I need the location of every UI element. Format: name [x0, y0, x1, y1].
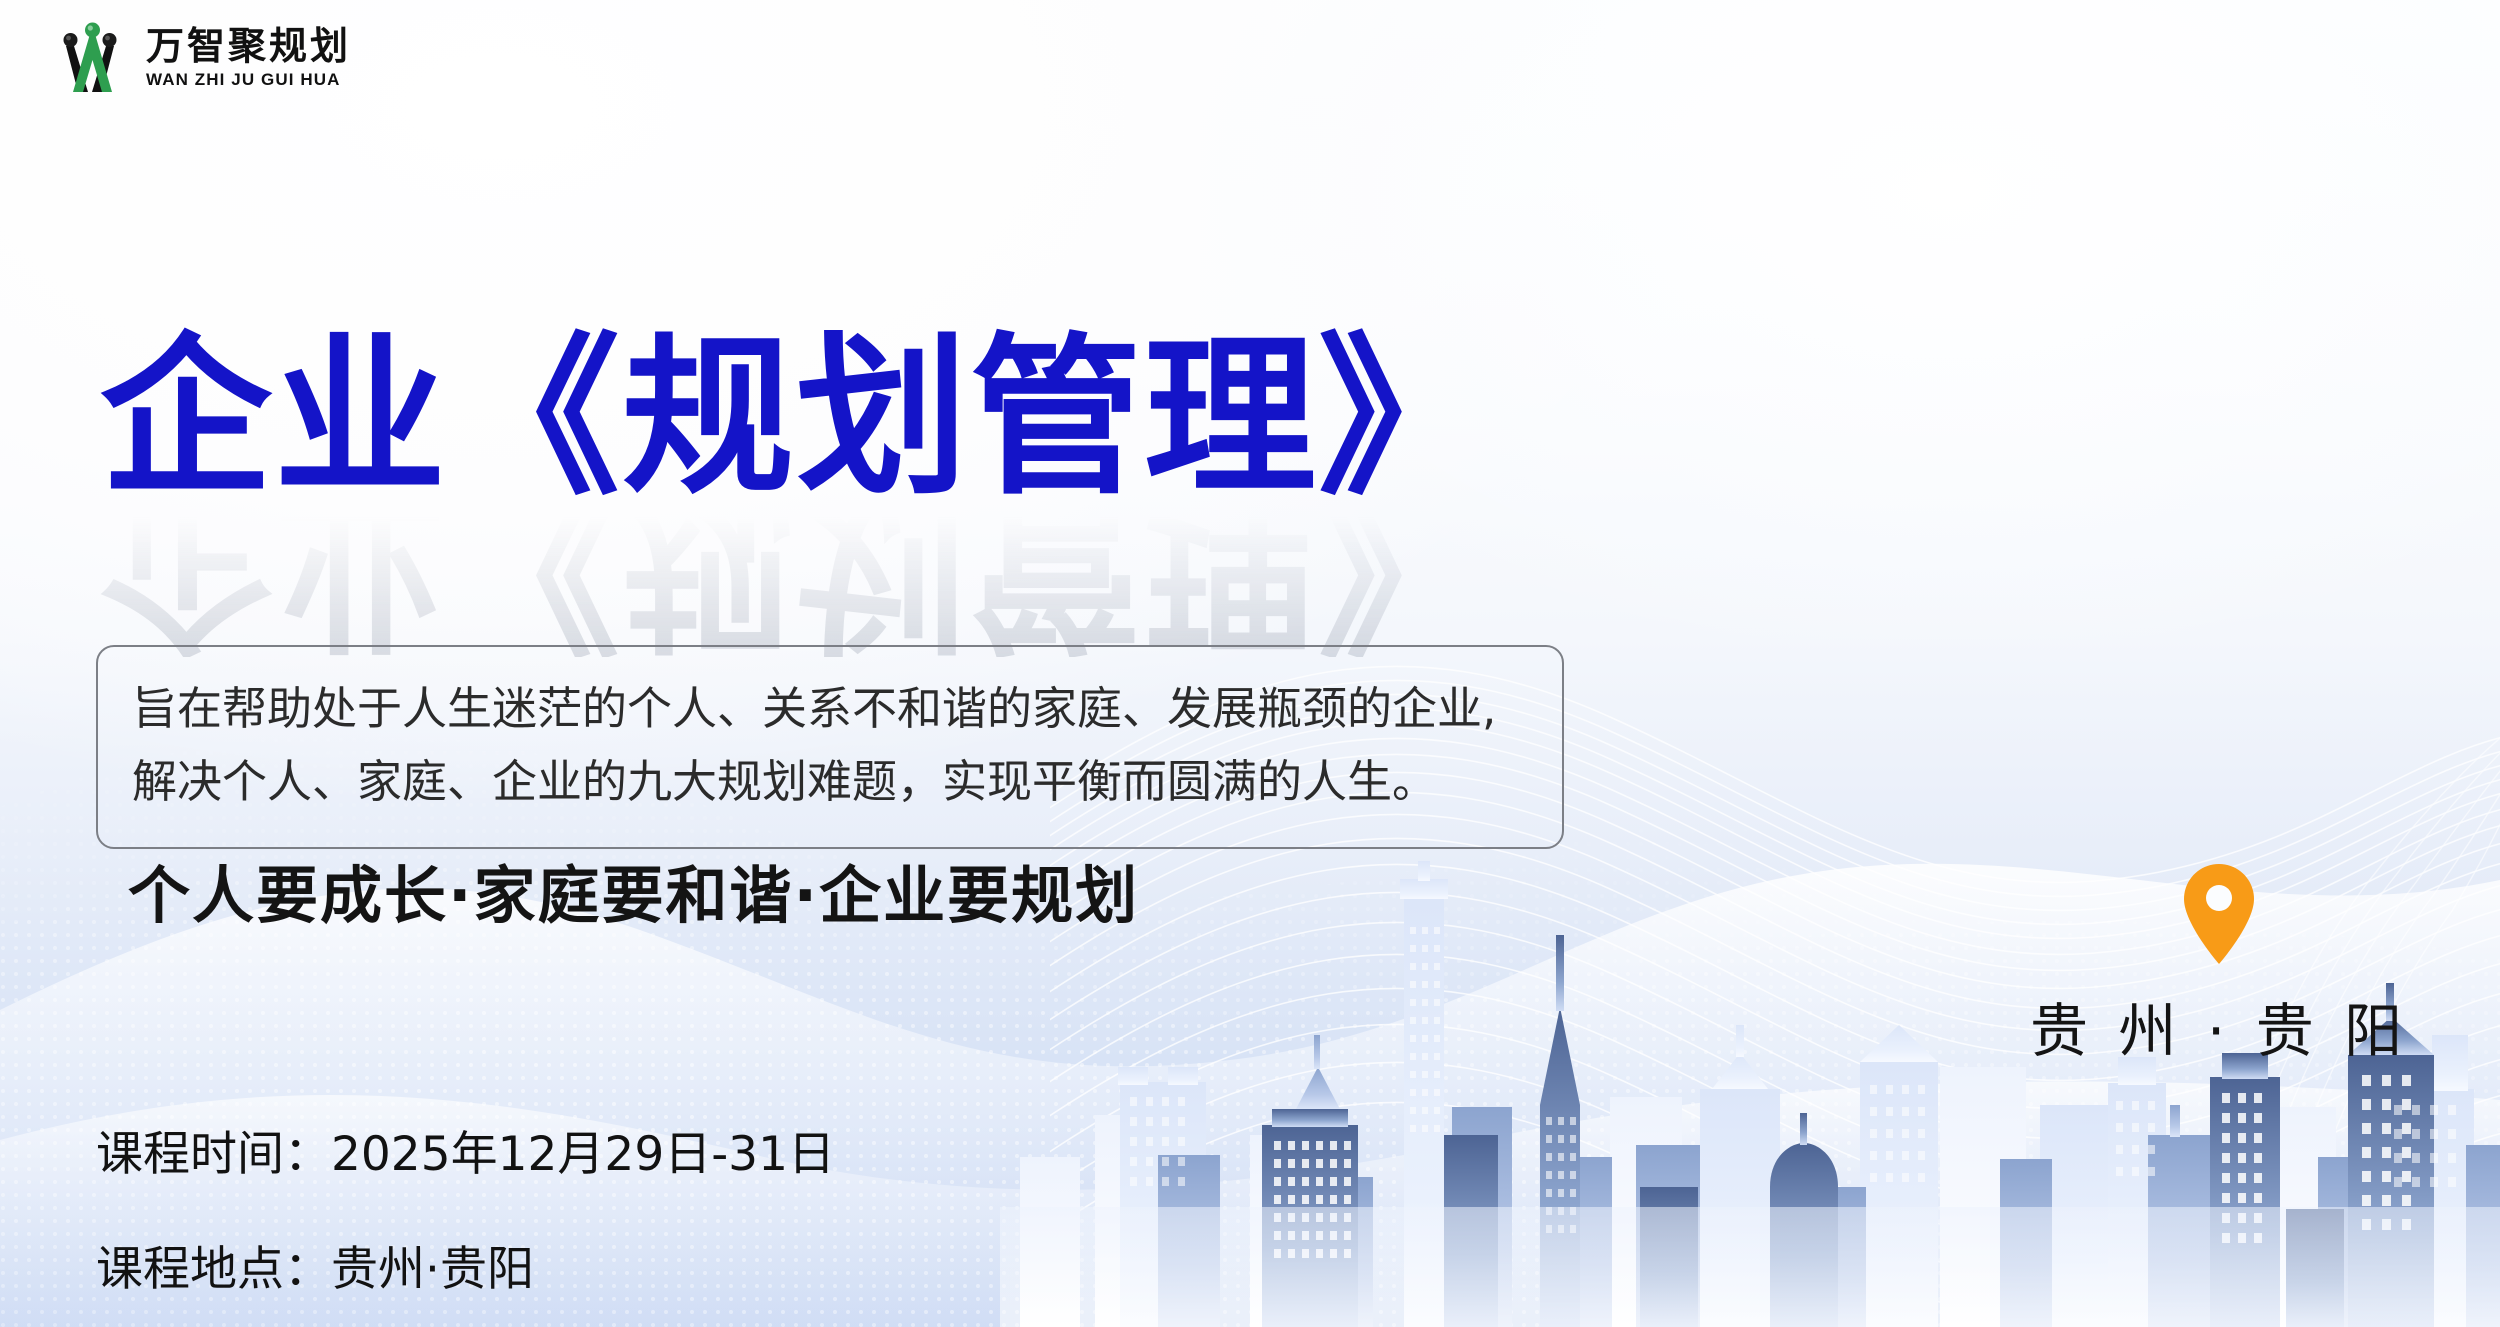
brand-logo-text: 万智聚规划 WAN ZHI JU GUI HUA: [146, 28, 351, 88]
page-title-reflection: 企业《规划管理》: [100, 507, 1492, 657]
brand-name-pinyin: WAN ZHI JU GUI HUA: [146, 71, 351, 88]
brand-name-cn: 万智聚规划: [146, 28, 351, 66]
location-block: 贵 州 · 贵 阳: [2030, 862, 2408, 1068]
course-info-block: 课程时间：2025年12月29日-31日 课程地点：贵州·贵阳: [96, 1115, 835, 1299]
description-line-1: 旨在帮助处于人生迷茫的个人、关系不和谐的家庭、发展瓶颈的企业,: [132, 673, 1528, 746]
poster-canvas: 万智聚规划 WAN ZHI JU GUI HUA 企业《规划管理》 企业《规划管…: [0, 0, 2500, 1327]
slogan-text: 个人要成长·家庭要和谐·企业要规划: [128, 845, 1139, 935]
hero-title-block: 企业《规划管理》 企业《规划管理》: [100, 330, 1492, 657]
course-place: 课程地点：贵州·贵阳: [96, 1230, 835, 1299]
location-name: 贵 州 · 贵 阳: [2030, 984, 2408, 1068]
description-box: 旨在帮助处于人生迷茫的个人、关系不和谐的家庭、发展瓶颈的企业, 解决个人、家庭、…: [96, 645, 1564, 849]
map-pin-icon: [2179, 862, 2259, 966]
three-people-logo-icon: [48, 18, 132, 98]
course-time: 课程时间：2025年12月29日-31日: [96, 1115, 835, 1184]
brand-logo[interactable]: 万智聚规划 WAN ZHI JU GUI HUA: [48, 18, 351, 98]
description-line-2: 解决个人、家庭、企业的九大规划难题，实现平衡而圆满的人生。: [132, 746, 1528, 819]
page-title: 企业《规划管理》: [100, 330, 1492, 505]
